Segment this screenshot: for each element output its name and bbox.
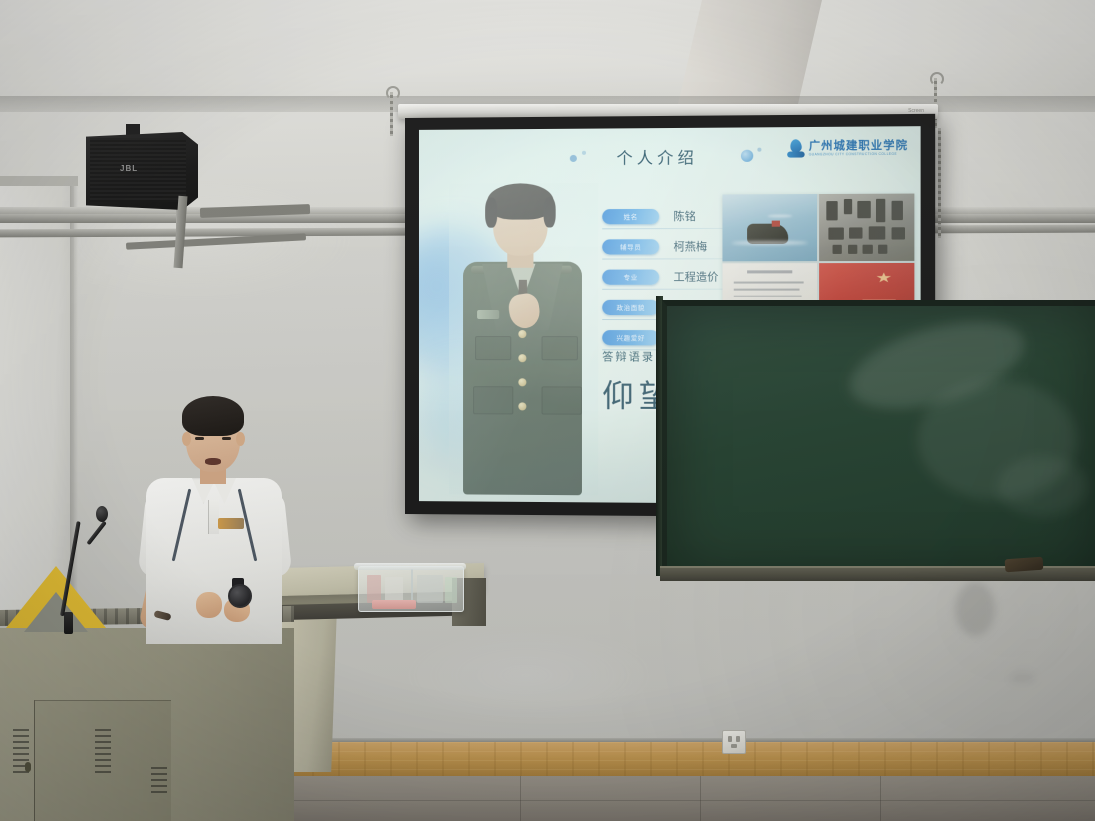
info-value: 柯燕梅: [673, 238, 707, 254]
power-outlet[interactable]: [722, 730, 746, 754]
drafting-triangle-inner: [24, 592, 88, 632]
screen-hook-left-icon: [386, 86, 400, 100]
chalk-smudge: [997, 456, 1087, 516]
microphone-base: [64, 612, 73, 634]
amphibious-vehicle-photo: [722, 194, 817, 261]
student-presenter: [138, 396, 298, 644]
info-label-pill: 辅导员: [602, 239, 659, 254]
slide-dot-decoration: [570, 155, 577, 162]
podium-cabinet-door[interactable]: [34, 700, 171, 821]
info-value: 陈铭: [673, 208, 695, 224]
slide-title: 个人介绍: [616, 144, 698, 169]
classroom-photo: JBL Screen 个人介绍: [0, 0, 1095, 821]
info-value: 工程造价: [673, 268, 718, 284]
school-name-cn: 广州城建职业学院: [809, 139, 908, 151]
microphone-head-icon[interactable]: [96, 506, 108, 522]
wristwatch: [228, 584, 252, 608]
floor-tile-seam: [700, 776, 701, 821]
slide-dot-decoration: [757, 148, 761, 152]
chalkboard[interactable]: [662, 300, 1095, 578]
plastic-bin-lid: [354, 563, 466, 570]
screen-hook-right-icon: [930, 72, 944, 86]
portrait-photo: [449, 183, 598, 495]
info-label-pill: 兴趣爱好: [602, 330, 659, 345]
info-label-pill: 姓名: [602, 208, 659, 223]
wall-scuff: [955, 582, 995, 636]
floor-tile-seam: [880, 776, 881, 821]
shirt-logo: [218, 518, 244, 529]
podium-door-knob[interactable]: [25, 762, 31, 772]
pink-paper-stack: [372, 600, 416, 609]
screen-chain-right-lower: [938, 128, 941, 238]
slide-dot-decoration: [582, 151, 586, 155]
ceiling-beam: [678, 0, 822, 104]
equipment-layout-photo: [819, 194, 914, 262]
water-drop-logo-icon: [787, 139, 805, 157]
wall-scuff: [1010, 672, 1036, 684]
school-logo: 广州城建职业学院 GUANGZHOU CITY CONSTRUCTION COL…: [787, 139, 908, 158]
slide-dot-decoration: [741, 150, 753, 162]
blackboard-eraser[interactable]: [1005, 557, 1044, 573]
pillar-cap: [0, 176, 78, 186]
floor-tile-seam: [520, 776, 521, 821]
info-label-pill: 政治面貌: [602, 299, 659, 314]
school-name-en: GUANGZHOU CITY CONSTRUCTION COLLEGE: [809, 153, 908, 157]
wall-pillar: [0, 180, 74, 610]
speaker-brand-label: JBL: [120, 164, 138, 173]
quote-label: 答辩语录: [602, 348, 655, 364]
info-label-pill: 专业: [602, 269, 659, 284]
